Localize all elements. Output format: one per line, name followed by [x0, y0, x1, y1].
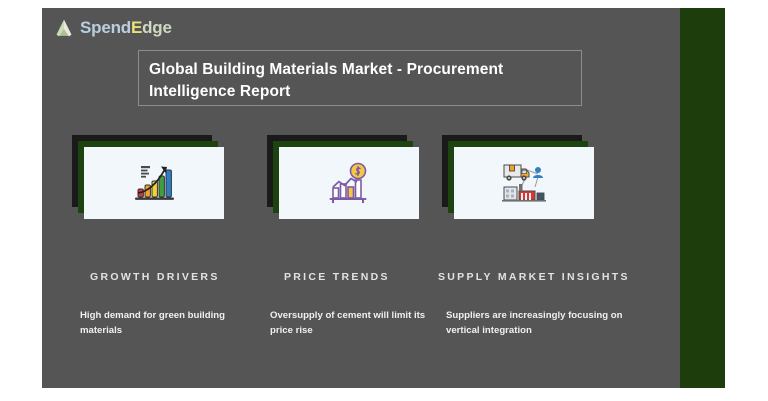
- card-layer-front: [454, 147, 594, 219]
- growth-bar-chart-arrow-icon: [131, 162, 177, 204]
- spendedge-logo: SpendEdge: [54, 16, 172, 40]
- price-chart-coin-icon: [326, 162, 372, 204]
- supply-chain-truck-factory-icon: [500, 161, 548, 205]
- card-layer-front: [84, 147, 224, 219]
- column-body-price-trends: Oversupply of cement will limit its pric…: [270, 308, 450, 338]
- column-body-supply-market-insights: Suppliers are increasingly focusing on v…: [446, 308, 636, 338]
- card-stack-growth-drivers: [72, 135, 218, 219]
- column-body-growth-drivers: High demand for green building materials: [80, 308, 260, 338]
- column-heading-price-trends: PRICE TRENDS: [284, 271, 390, 283]
- column-heading-supply-market-insights: SUPPLY MARKET INSIGHTS: [438, 271, 630, 283]
- title-box: Global Building Materials Market - Procu…: [138, 50, 582, 106]
- presentation-slide: SpendEdge Global Building Materials Mark…: [42, 8, 725, 388]
- page-title: Global Building Materials Market - Procu…: [149, 59, 569, 103]
- card-stack-price-trends: [267, 135, 413, 219]
- logo-text-e: E: [131, 18, 142, 37]
- slide-canvas: SpendEdge Global Building Materials Mark…: [0, 0, 768, 401]
- card-layer-front: [279, 147, 419, 219]
- accent-strip: [680, 8, 725, 388]
- spendedge-triangle-logo-icon: [54, 18, 74, 38]
- card-stack-supply-market-insights: [442, 135, 588, 219]
- column-heading-growth-drivers: GROWTH DRIVERS: [90, 271, 220, 283]
- logo-text-dge: dge: [142, 18, 172, 37]
- logo-text-spend: Spend: [80, 18, 131, 37]
